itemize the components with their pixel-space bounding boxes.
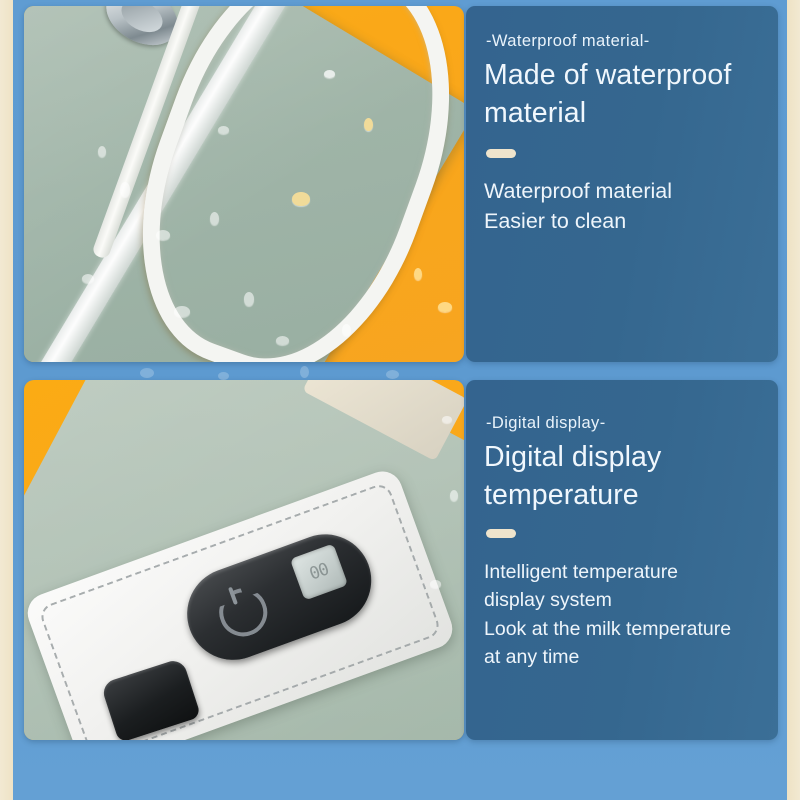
water-droplet [98,146,106,157]
water-droplet [342,324,351,336]
headline: Digital display temperature [484,439,768,515]
body-line: Waterproof material [484,176,768,207]
product-feature-page: -Waterproof material- Made of waterproof… [0,0,800,800]
body-line: Easier to clean [484,206,768,237]
headline-line: temperature [484,477,768,515]
power-button-icon[interactable] [212,582,274,644]
water-droplet [218,126,229,134]
background-droplet [140,368,154,378]
body-line: at any time [484,643,768,671]
body-line: Look at the milk temperature [484,615,768,643]
eyebrow-label: -Digital display- [486,414,768,433]
water-droplet [364,118,373,131]
lcd-screen: 00 [290,543,348,600]
feature-panel-waterproof: -Waterproof material- Made of waterproof… [24,6,778,362]
page-edge-strip-right [787,0,800,800]
page-edge-strip-left [0,0,13,800]
eyebrow-label: -Waterproof material- [486,32,768,51]
water-droplet [244,292,254,306]
headline-line: Made of waterproof [484,57,768,95]
headline-line: Digital display [484,439,768,477]
body-line: Intelligent temperature [484,558,768,586]
body-text: Intelligent temperature display system L… [484,558,768,672]
headline-line: material [484,95,768,133]
background-droplet [386,370,399,379]
water-droplet [174,306,190,317]
feature-panel-digital-display: 00 -Digital display- Digital display tem… [24,380,778,740]
headline: Made of waterproof material [484,57,768,133]
accent-dash [486,529,516,538]
water-droplet [120,182,130,197]
water-droplet [450,490,458,501]
lcd-temperature-reading: 00 [290,543,348,600]
water-droplet [324,70,335,78]
body-text: Waterproof material Easier to clean [484,176,768,237]
water-droplet [82,274,94,283]
digital-display-text-card: -Digital display- Digital display temper… [466,380,778,740]
background-droplet [300,366,309,378]
water-droplet [210,212,219,225]
water-droplet [442,416,452,423]
body-line: display system [484,586,768,614]
control-panel-photo: 00 [24,380,464,740]
water-droplet [430,580,441,588]
accent-dash [486,149,516,158]
background-droplet [218,372,229,380]
water-droplet [438,302,452,312]
waterproof-bag-strap-photo [24,6,464,362]
water-droplet [156,230,170,240]
waterproof-text-card: -Waterproof material- Made of waterproof… [466,6,778,362]
water-droplet [414,268,422,280]
water-droplet [276,336,289,345]
water-droplet [292,192,310,206]
